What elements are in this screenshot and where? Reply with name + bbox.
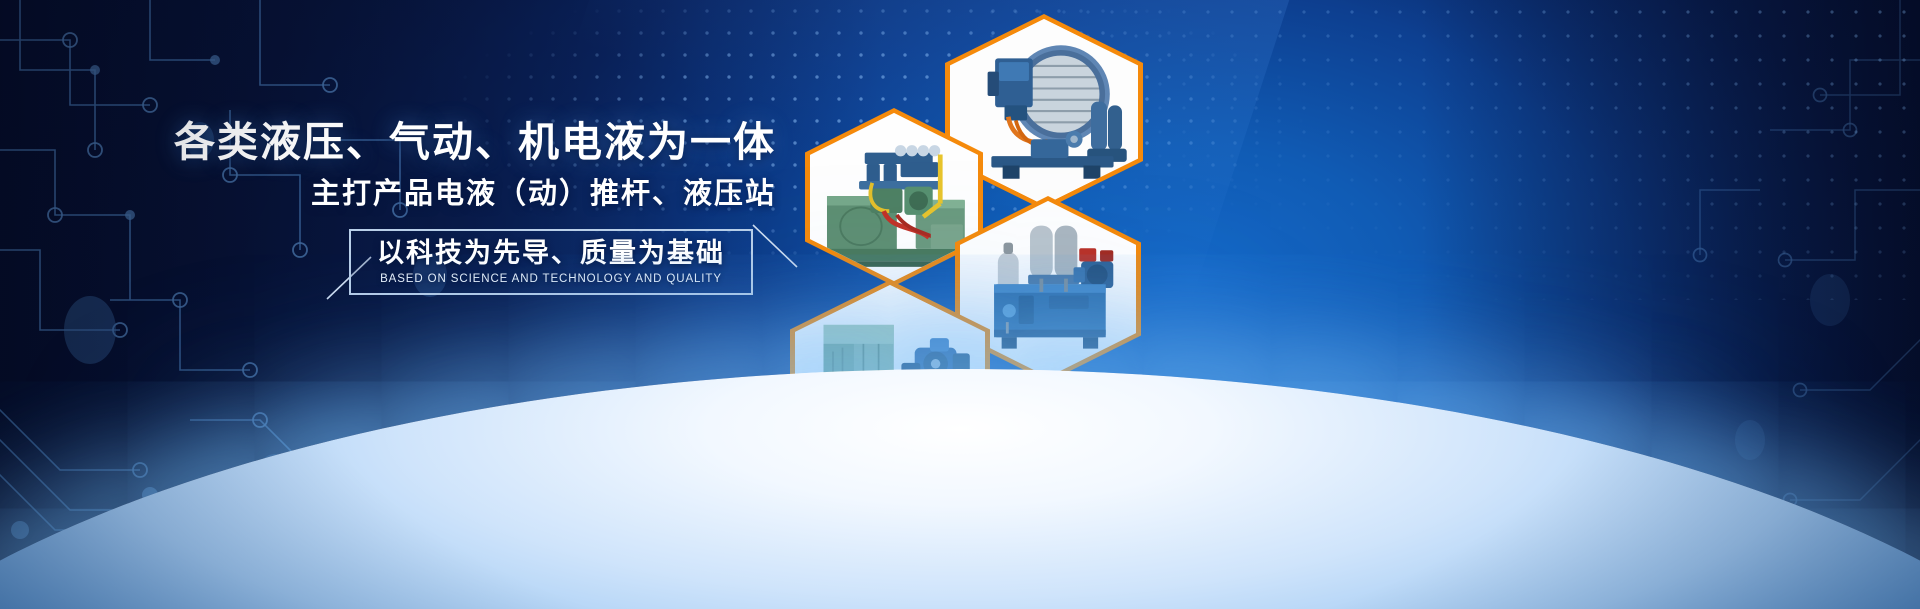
hero-banner: 各类液压、气动、机电液为一体 主打产品电液（动）推杆、液压站 以科技为先导、质量… (0, 0, 1920, 609)
background-vignette (0, 0, 1920, 609)
